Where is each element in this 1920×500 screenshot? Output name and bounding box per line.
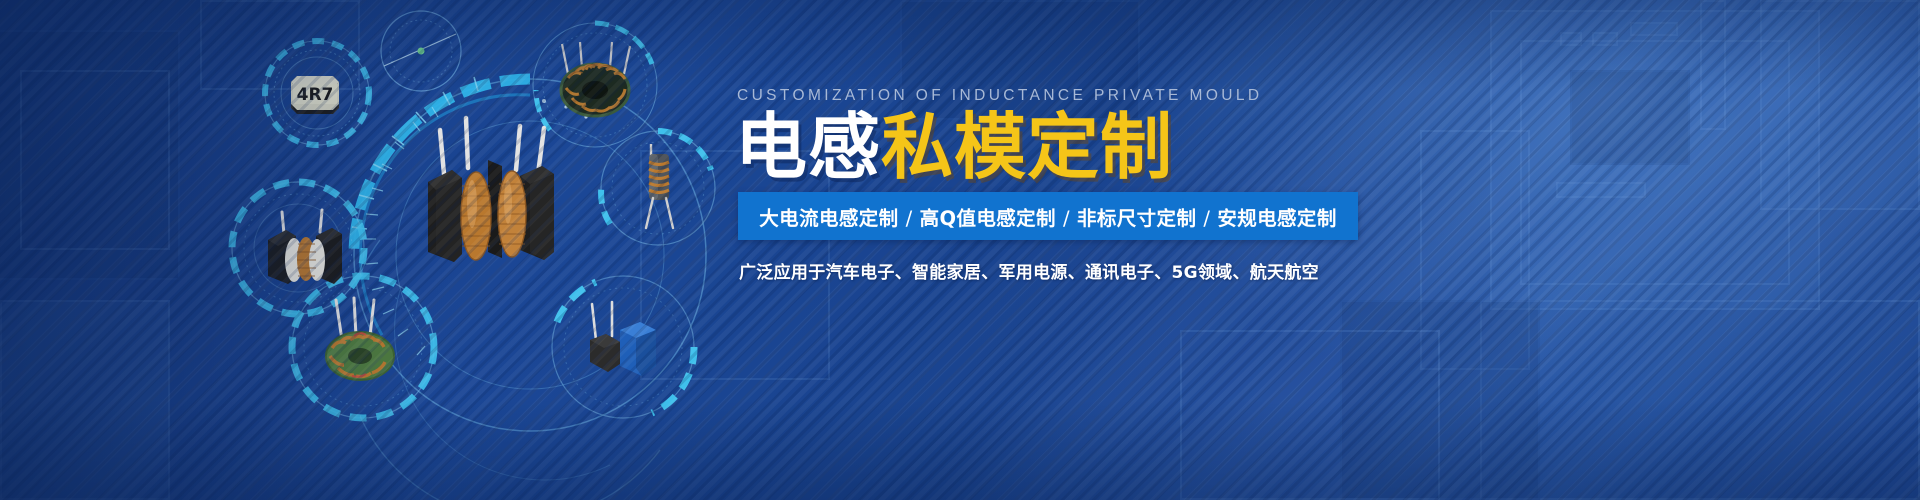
banner-description: 广泛应用于汽车电子、智能家居、军用电源、通讯电子、5G领域、航天航空 (739, 258, 1319, 283)
feature-item-0: 大电流电感定制 (759, 207, 898, 230)
feature-item-2: 非标尺寸定制 (1077, 207, 1196, 230)
banner-headline: 电感私模定制 (735, 110, 1173, 186)
feature-list-items: 大电流电感定制/高Q值电感定制/非标尺寸定制/安规电感定制 (759, 202, 1336, 231)
feature-item-3: 安规电感定制 (1217, 207, 1336, 230)
feature-separator-1: / (1056, 207, 1077, 230)
feature-separator-2: / (1196, 207, 1217, 230)
feature-separator-0: / (899, 207, 920, 230)
headline-white-part: 电感 (735, 105, 881, 189)
banner-eyebrow-english: CUSTOMIZATION OF INDUCTANCE PRIVATE MOUL… (737, 87, 1262, 105)
inductance-promo-banner: 4R7 (0, 0, 1920, 500)
feature-item-1: 高Q值电感定制 (920, 207, 1056, 230)
headline-yellow-part: 私模定制 (881, 105, 1173, 189)
banner-text-column: CUSTOMIZATION OF INDUCTANCE PRIVATE MOUL… (735, 0, 1835, 500)
feature-list-bar: 大电流电感定制/高Q值电感定制/非标尺寸定制/安规电感定制 (738, 192, 1358, 240)
